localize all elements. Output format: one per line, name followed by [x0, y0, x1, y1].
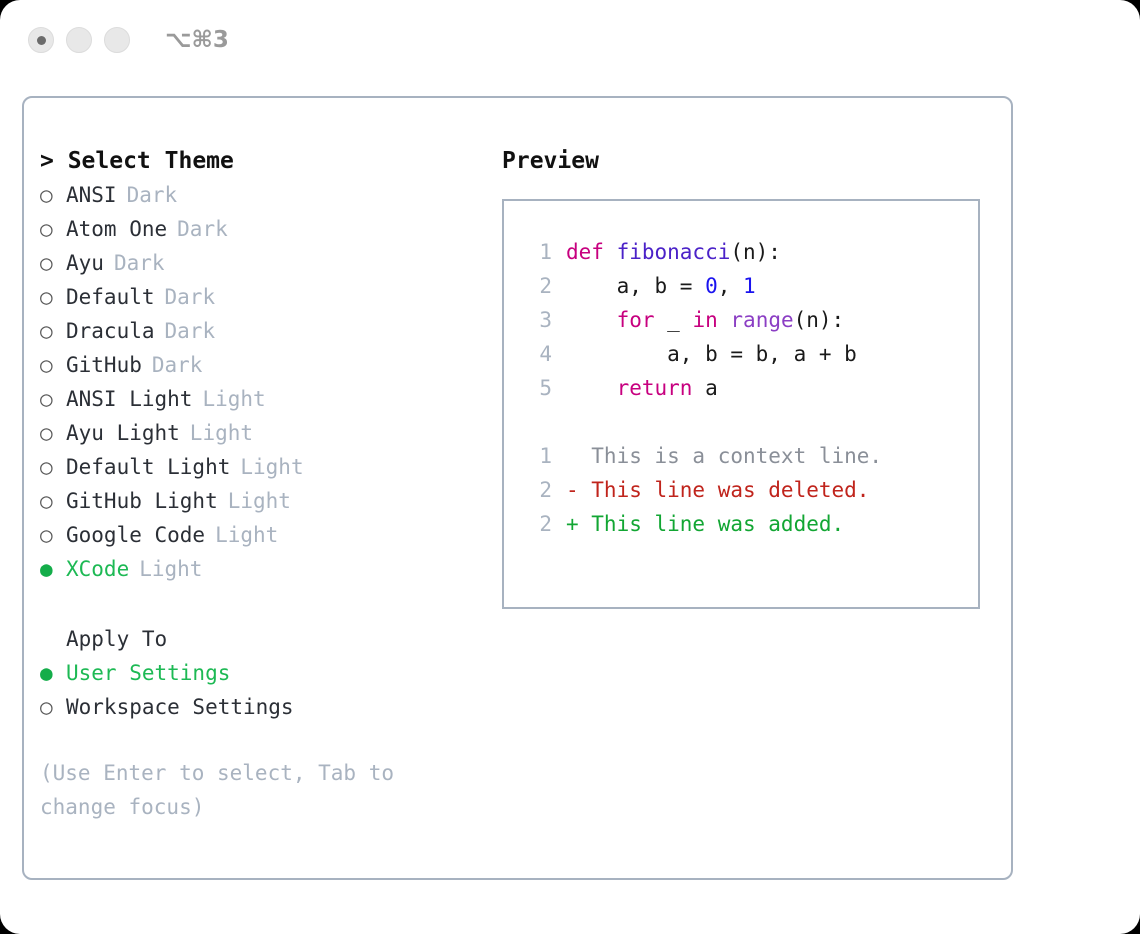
theme-name-label: Ayu Light: [66, 416, 180, 450]
diff-line: 2+ This line was added.: [522, 507, 960, 541]
diff-line: 2- This line was deleted.: [522, 473, 960, 507]
theme-list-item[interactable]: ○ANSI LightLight: [40, 382, 480, 416]
radio-selected-icon: ●: [40, 552, 66, 586]
theme-variant-badge: Dark: [152, 348, 203, 382]
theme-variant-badge: Dark: [165, 280, 216, 314]
keyboard-shortcut-label: ⌥⌘3: [165, 27, 229, 53]
theme-list-item[interactable]: ○Atom OneDark: [40, 212, 480, 246]
theme-name-label: Ayu: [66, 246, 104, 280]
window-titlebar: ⌥⌘3: [0, 0, 1140, 80]
radio-unselected-icon: ○: [40, 212, 66, 246]
record-indicator-dot: [37, 36, 46, 45]
line-content: def fibonacci(n):: [566, 235, 781, 269]
apply-to-heading: Apply To: [40, 622, 480, 656]
code-line: 4 a, b = b, a + b: [522, 337, 960, 371]
code-token: (n):: [794, 308, 845, 332]
code-token: for: [617, 308, 655, 332]
code-line: 1def fibonacci(n):: [522, 235, 960, 269]
code-token: [718, 308, 731, 332]
apply-to-item[interactable]: ○Workspace Settings: [40, 690, 480, 724]
code-token: [566, 376, 617, 400]
apply-to-label: User Settings: [66, 656, 230, 690]
radio-unselected-icon: ○: [40, 518, 66, 552]
code-token: _: [655, 308, 693, 332]
theme-name-label: Google Code: [66, 518, 205, 552]
line-number: 3: [522, 303, 552, 337]
code-token: This is a context line.: [566, 444, 882, 468]
window-control-second[interactable]: [66, 27, 92, 53]
theme-list-item[interactable]: ○DefaultDark: [40, 280, 480, 314]
line-number: 2: [522, 269, 552, 303]
preview-heading: Preview: [502, 144, 1002, 178]
line-content: - This line was deleted.: [566, 473, 869, 507]
radio-unselected-icon: ○: [40, 450, 66, 484]
preview-column: Preview 1def fibonacci(n):2 a, b = 0, 13…: [502, 144, 1002, 609]
theme-list-item[interactable]: ●XCodeLight: [40, 552, 480, 586]
theme-list-column: > Select Theme ○ANSIDark○Atom OneDark○Ay…: [40, 144, 480, 824]
select-theme-heading: > Select Theme: [40, 144, 480, 178]
theme-name-label: XCode: [66, 552, 129, 586]
theme-variant-badge: Dark: [114, 246, 165, 280]
code-token: a, b = b, a + b: [566, 342, 857, 366]
code-token: [566, 308, 617, 332]
radio-unselected-icon: ○: [40, 484, 66, 518]
window-control-third[interactable]: [104, 27, 130, 53]
theme-selector-card: > Select Theme ○ANSIDark○Atom OneDark○Ay…: [22, 96, 1013, 880]
theme-variant-badge: Light: [228, 484, 291, 518]
theme-variant-badge: Dark: [177, 212, 228, 246]
line-number: 2: [522, 473, 552, 507]
code-token: a: [692, 376, 717, 400]
code-token: fibonacci: [617, 240, 731, 264]
radio-unselected-icon: ○: [40, 178, 66, 212]
radio-unselected-icon: ○: [40, 690, 66, 724]
radio-unselected-icon: ○: [40, 416, 66, 450]
code-token: 1: [743, 274, 756, 298]
radio-unselected-icon: ○: [40, 348, 66, 382]
theme-variant-badge: Light: [139, 552, 202, 586]
theme-list-item[interactable]: ○GitHub LightLight: [40, 484, 480, 518]
theme-list-item[interactable]: ○Default LightLight: [40, 450, 480, 484]
theme-name-label: Atom One: [66, 212, 167, 246]
theme-name-label: ANSI Light: [66, 382, 192, 416]
code-diff-separator: [522, 405, 960, 439]
radio-unselected-icon: ○: [40, 246, 66, 280]
theme-list-item[interactable]: ○Google CodeLight: [40, 518, 480, 552]
window-control-record[interactable]: [28, 27, 54, 53]
line-content: for _ in range(n):: [566, 303, 844, 337]
diff-sample: 1 This is a context line.2- This line wa…: [522, 439, 960, 541]
section-spacer: [40, 586, 480, 622]
code-token: in: [692, 308, 717, 332]
code-token: a, b =: [566, 274, 705, 298]
line-number: 1: [522, 235, 552, 269]
code-token: range: [730, 308, 793, 332]
code-line: 2 a, b = 0, 1: [522, 269, 960, 303]
code-token: - This line was deleted.: [566, 478, 869, 502]
theme-variant-badge: Light: [240, 450, 303, 484]
code-line: 5 return a: [522, 371, 960, 405]
code-token: ,: [718, 274, 743, 298]
window-controls: [28, 27, 130, 53]
theme-variant-badge: Dark: [165, 314, 216, 348]
line-content: a, b = b, a + b: [566, 337, 857, 371]
theme-variant-badge: Dark: [127, 178, 178, 212]
theme-list-item[interactable]: ○AyuDark: [40, 246, 480, 280]
line-number: 2: [522, 507, 552, 541]
line-number: 4: [522, 337, 552, 371]
theme-list-item[interactable]: ○ANSIDark: [40, 178, 480, 212]
apply-to-list: ●User Settings○Workspace Settings: [40, 656, 480, 724]
code-line: 3 for _ in range(n):: [522, 303, 960, 337]
theme-list: ○ANSIDark○Atom OneDark○AyuDark○DefaultDa…: [40, 178, 480, 586]
line-content: return a: [566, 371, 718, 405]
theme-variant-badge: Light: [215, 518, 278, 552]
apply-to-label: Workspace Settings: [66, 690, 294, 724]
theme-name-label: GitHub: [66, 348, 142, 382]
radio-unselected-icon: ○: [40, 382, 66, 416]
radio-unselected-icon: ○: [40, 280, 66, 314]
code-token: return: [617, 376, 693, 400]
theme-name-label: Default: [66, 280, 155, 314]
apply-to-item[interactable]: ●User Settings: [40, 656, 480, 690]
preview-box: 1def fibonacci(n):2 a, b = 0, 13 for _ i…: [502, 199, 980, 609]
theme-name-label: Dracula: [66, 314, 155, 348]
code-sample: 1def fibonacci(n):2 a, b = 0, 13 for _ i…: [522, 235, 960, 405]
theme-name-label: Default Light: [66, 450, 230, 484]
line-number: 1: [522, 439, 552, 473]
radio-unselected-icon: ○: [40, 314, 66, 348]
line-content: a, b = 0, 1: [566, 269, 756, 303]
theme-list-item[interactable]: ○Ayu LightLight: [40, 416, 480, 450]
line-number: 5: [522, 371, 552, 405]
line-content: + This line was added.: [566, 507, 844, 541]
app-window: ⌥⌘3 > Select Theme ○ANSIDark○Atom OneDar…: [0, 0, 1140, 934]
line-content: This is a context line.: [566, 439, 882, 473]
theme-name-label: ANSI: [66, 178, 117, 212]
code-token: def: [566, 240, 617, 264]
theme-list-item[interactable]: ○GitHubDark: [40, 348, 480, 382]
code-token: + This line was added.: [566, 512, 844, 536]
code-token: (n):: [730, 240, 781, 264]
code-token: 0: [705, 274, 718, 298]
keyboard-hint-text: (Use Enter to select, Tab to change focu…: [40, 756, 450, 824]
diff-line: 1 This is a context line.: [522, 439, 960, 473]
theme-variant-badge: Light: [190, 416, 253, 450]
theme-list-item[interactable]: ○DraculaDark: [40, 314, 480, 348]
radio-selected-icon: ●: [40, 656, 66, 690]
theme-variant-badge: Light: [202, 382, 265, 416]
theme-name-label: GitHub Light: [66, 484, 218, 518]
